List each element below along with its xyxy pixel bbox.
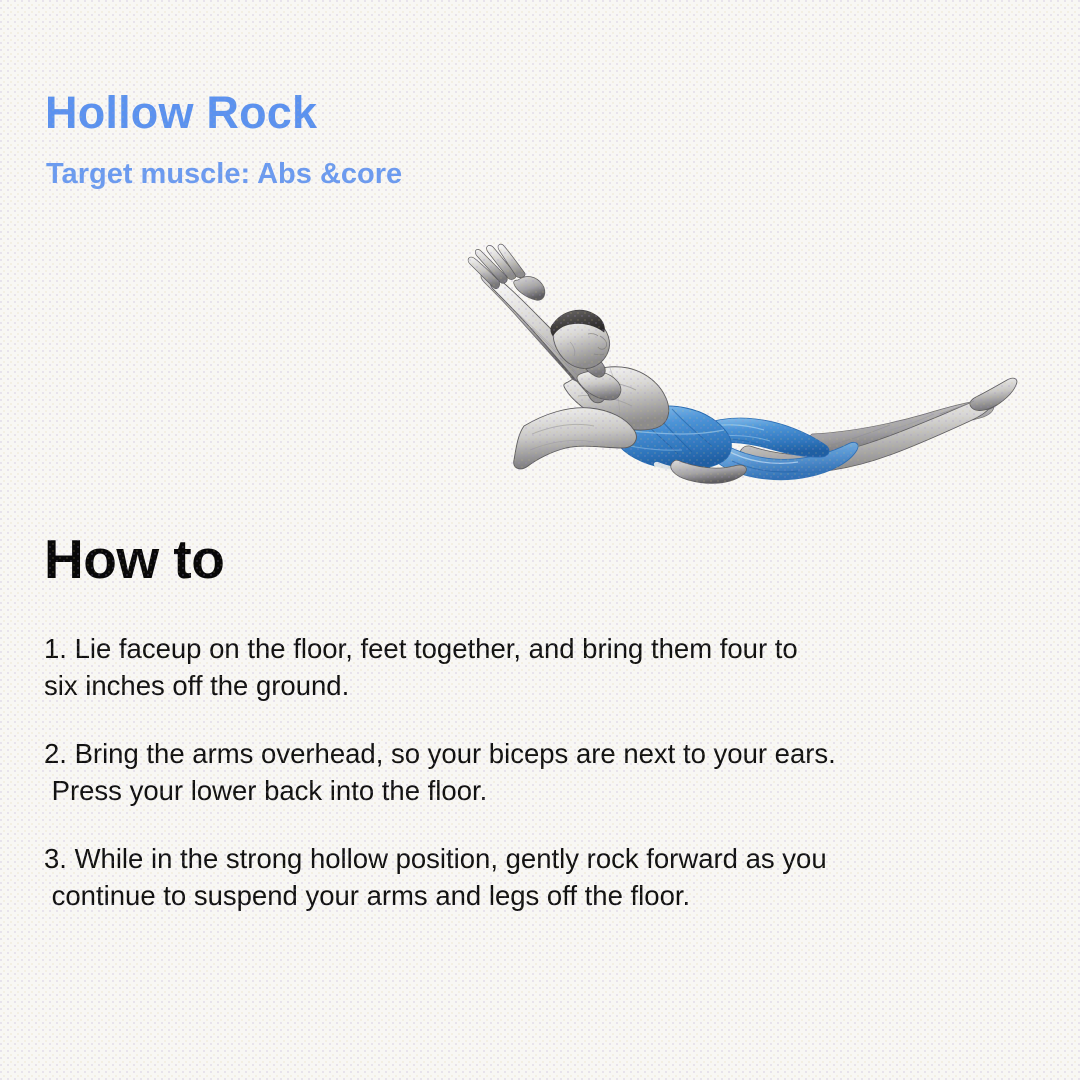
instruction-step: 3. While in the strong hollow position, … [44, 840, 1034, 915]
page-title: Hollow Rock [45, 90, 317, 135]
lower-back [514, 408, 637, 469]
near-foot [970, 378, 1017, 410]
target-muscle-subtitle: Target muscle: Abs &core [46, 160, 402, 189]
exercise-card: Hollow Rock Target muscle: Abs &core [0, 0, 1080, 1080]
howto-heading: How to [44, 532, 224, 587]
instruction-step: 2. Bring the arms overhead, so your bice… [44, 735, 1034, 810]
instruction-steps: 1. Lie faceup on the floor, feet togethe… [44, 630, 1034, 914]
exercise-illustration [420, 218, 1020, 503]
instruction-step: 1. Lie faceup on the floor, feet togethe… [44, 630, 1034, 705]
hollow-rock-figure-svg [420, 218, 1020, 503]
